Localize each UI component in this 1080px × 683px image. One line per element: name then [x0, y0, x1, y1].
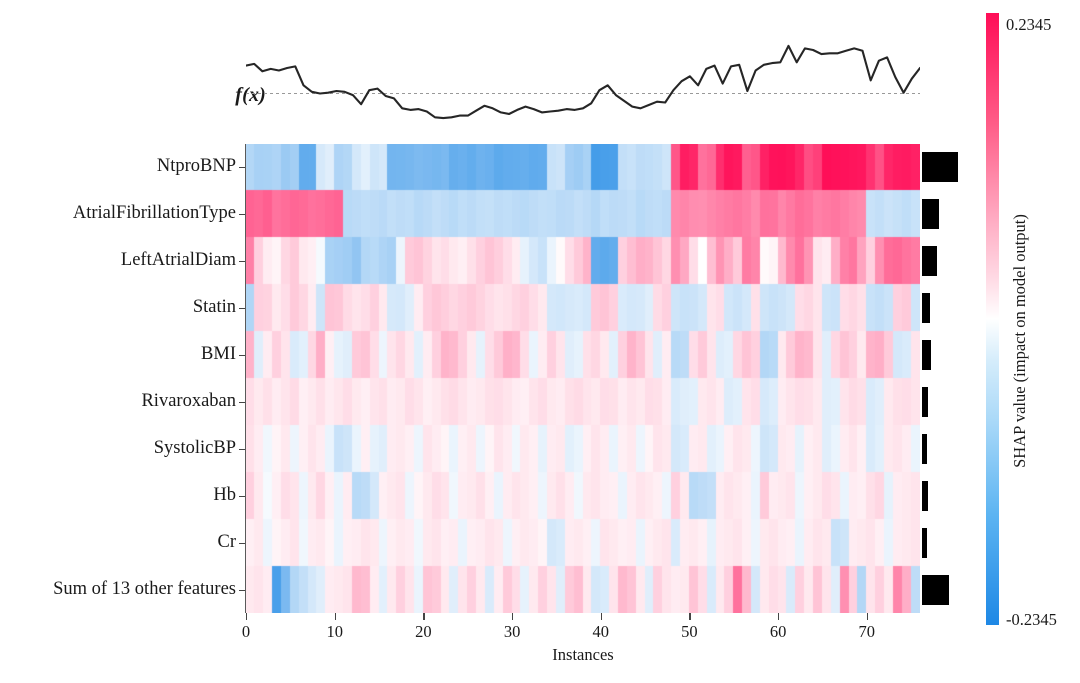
- feature-label-atrialfibrillationtype: AtrialFibrillationType: [0, 204, 236, 223]
- feature-label-cr: Cr: [0, 533, 236, 552]
- colorbar-max-label: 0.2345: [1006, 15, 1051, 35]
- feature-label-leftatrialdiam: LeftAtrialDiam: [0, 251, 236, 270]
- x-axis-ticks: 010203040506070: [246, 613, 920, 639]
- x-tick: [601, 613, 602, 620]
- x-tick: [335, 613, 336, 620]
- colorbar-min-label: -0.2345: [1006, 610, 1057, 630]
- feature-label-rivaroxaban: Rivaroxaban: [0, 392, 236, 411]
- x-tick: [867, 613, 868, 620]
- importance-bar-bmi: [922, 340, 931, 370]
- fx-curve: [246, 46, 920, 118]
- importance-bar-rivaroxaban: [922, 387, 928, 417]
- importance-bar-atrialfibrillationtype: [922, 199, 939, 229]
- x-tick-label: 40: [592, 622, 609, 642]
- fx-line-plot: [246, 14, 920, 142]
- importance-bar-hb: [922, 481, 928, 511]
- feature-label-hb: Hb: [0, 486, 236, 505]
- x-tick: [246, 613, 247, 620]
- feature-label-ntprobnp: NtproBNP: [0, 157, 236, 176]
- x-tick-label: 60: [770, 622, 787, 642]
- x-tick-label: 50: [681, 622, 698, 642]
- feature-label-sum-of-13-other-features: Sum of 13 other features: [0, 580, 236, 599]
- x-tick: [689, 613, 690, 620]
- x-tick-label: 0: [242, 622, 250, 642]
- importance-bar-cr: [922, 528, 927, 558]
- x-tick-label: 30: [504, 622, 521, 642]
- x-tick: [778, 613, 779, 620]
- x-tick-label: 10: [326, 622, 343, 642]
- feature-label-statin: Statin: [0, 298, 236, 317]
- x-tick: [512, 613, 513, 620]
- x-tick-label: 20: [415, 622, 432, 642]
- importance-bar-systolicbp: [922, 434, 927, 464]
- x-tick: [423, 613, 424, 620]
- feature-importance-bars: [920, 144, 980, 613]
- importance-bar-leftatrialdiam: [922, 246, 937, 276]
- feature-labels: NtproBNPAtrialFibrillationTypeLeftAtrial…: [0, 144, 236, 613]
- feature-label-bmi: BMI: [0, 345, 236, 364]
- x-axis-title: Instances: [246, 645, 920, 665]
- colorbar-title: SHAP value (impact on model output): [1010, 214, 1030, 468]
- importance-bar-ntprobnp: [922, 152, 958, 182]
- importance-bar-statin: [922, 293, 930, 323]
- x-tick-label: 70: [859, 622, 876, 642]
- colorbar: [986, 13, 999, 625]
- feature-label-systolicbp: SystolicBP: [0, 439, 236, 458]
- heatmap-panel: [246, 144, 920, 613]
- heatmap-canvas: [246, 144, 920, 613]
- importance-bar-sum-of-13-other-features: [922, 575, 949, 605]
- shap-heatmap-figure: f(x) NtproBNPAtrialFibrillationTypeLeftA…: [0, 0, 1080, 683]
